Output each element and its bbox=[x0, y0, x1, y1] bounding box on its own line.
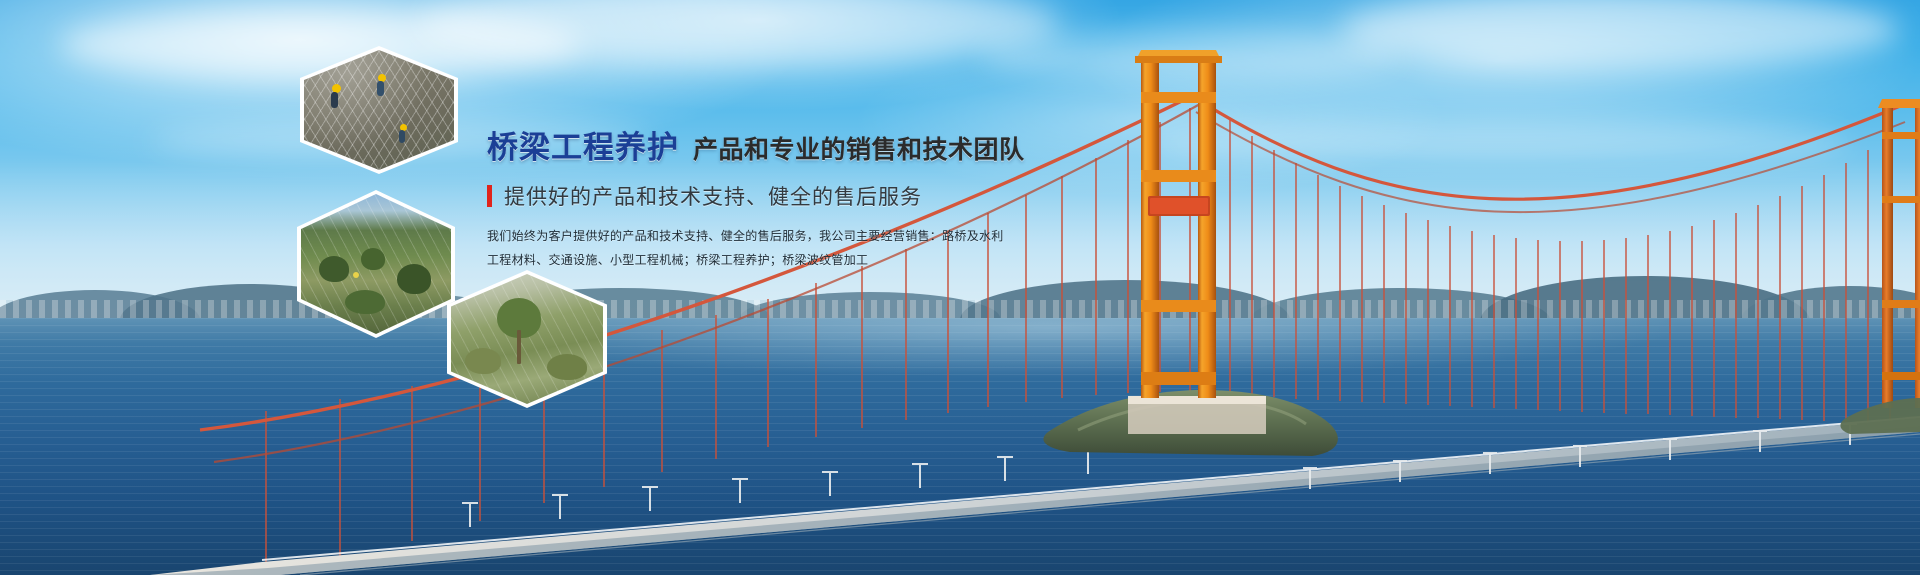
subtitle: 提供好的产品和技术支持、健全的售后服务 bbox=[504, 181, 922, 211]
headline: 桥梁工程养护 产品和专业的销售和技术团队 bbox=[487, 122, 1047, 167]
cloud bbox=[980, 30, 1400, 82]
sea-glow bbox=[0, 318, 1920, 408]
headline-secondary: 产品和专业的销售和技术团队 bbox=[693, 130, 1025, 166]
thumbnail-image bbox=[304, 50, 454, 170]
subtitle-row: 提供好的产品和技术支持、健全的售后服务 bbox=[487, 181, 1047, 211]
description: 我们始终为客户提供好的产品和技术支持、健全的售后服务，我公司主要经营销售：路桥及… bbox=[487, 227, 907, 270]
thumbnail-image bbox=[451, 274, 603, 404]
thumbnail-image bbox=[301, 194, 451, 334]
shoreline-buildings bbox=[0, 300, 1920, 318]
description-line: 工程材料、交通设施、小型工程机械；桥梁工程养护；桥梁波纹管加工 bbox=[487, 251, 907, 270]
description-line: 我们始终为客户提供好的产品和技术支持、健全的售后服务，我公司主要经营销售：路桥及… bbox=[487, 227, 907, 246]
hero-banner: 桥梁工程养护 产品和专业的销售和技术团队 提供好的产品和技术支持、健全的售后服务… bbox=[0, 0, 1920, 575]
headline-primary: 桥梁工程养护 bbox=[487, 122, 679, 167]
banner-copy: 桥梁工程养护 产品和专业的销售和技术团队 提供好的产品和技术支持、健全的售后服务… bbox=[487, 122, 1047, 275]
red-accent-bar bbox=[487, 185, 492, 207]
